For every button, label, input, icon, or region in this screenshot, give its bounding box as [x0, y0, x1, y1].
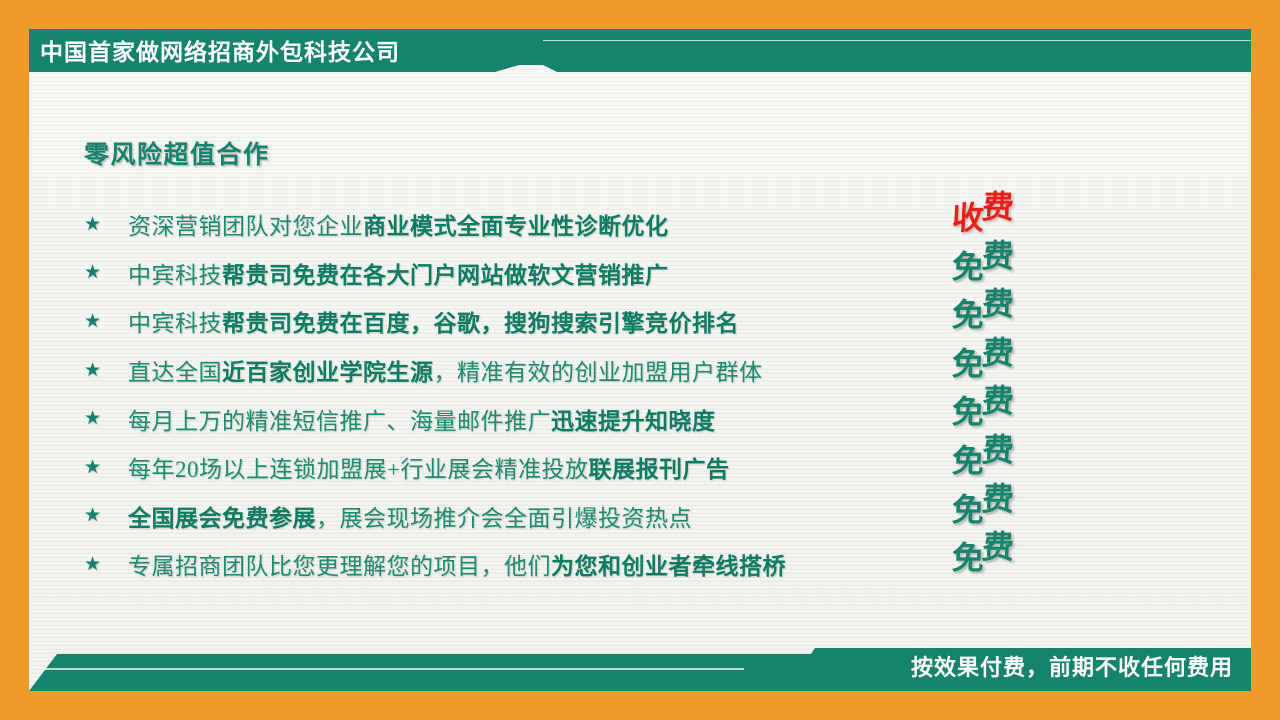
list-item-label: 直达全国近百家创业学院生源，精准有效的创业加盟用户群体 [128, 353, 763, 387]
price-char-first: 免 [951, 542, 985, 574]
star-icon: ★ [84, 215, 128, 234]
footer-text: 按效果付费，前期不收任何费用 [911, 650, 1233, 686]
star-icon: ★ [84, 409, 128, 428]
label-emphasis: 商业模式全面专业性诊断优化 [363, 214, 669, 239]
list-item-label: 专属招商团队比您更理解您的项目，他们为您和创业者牵线搭桥 [128, 547, 786, 581]
list-item-label: 中宾科技帮贵司免费在百度，谷歌，搜狗搜索引擎竞价排名 [128, 304, 739, 338]
list-item-label: 中宾科技帮贵司免费在各大门户网站做软文营销推广 [128, 256, 669, 290]
star-icon: ★ [84, 555, 128, 574]
status-badge-free: 免费 [952, 488, 1014, 520]
header-accent-strip [543, 41, 1251, 72]
list-item: ★中宾科技帮贵司免费在各大门户网站做软文营销推广 [84, 249, 1084, 298]
label-emphasis: 为您和创业者牵线搭桥 [551, 554, 786, 579]
price-char-first: 免 [951, 251, 985, 283]
list-item-label: 每年20场以上连锁加盟展+行业展会精准投放联展报刊广告 [128, 450, 729, 484]
label-normal-prefix: 资深营销团队对您企业 [128, 214, 363, 239]
star-icon: ★ [84, 312, 128, 331]
label-emphasis: 帮贵司免费在百度，谷歌，搜狗搜索引擎竞价排名 [222, 311, 739, 336]
price-char-first: 收 [951, 202, 985, 234]
list-item-label: 全国展会免费参展，展会现场推介会全面引爆投资热点 [128, 499, 692, 533]
list-item: ★资深营销团队对您企业商业模式全面专业性诊断优化 [84, 200, 1084, 249]
list-item: ★专属招商团队比您更理解您的项目，他们为您和创业者牵线搭桥 [84, 540, 1084, 589]
star-icon: ★ [84, 458, 128, 477]
label-emphasis: 帮贵司免费在各大门户网站做软文营销推广 [222, 263, 669, 288]
price-char-second: 费 [981, 240, 1015, 272]
list-item: ★每年20场以上连锁加盟展+行业展会精准投放联展报刊广告 [84, 443, 1084, 492]
label-emphasis: 全国展会免费参展 [128, 506, 316, 531]
slide-root: 中国首家做网络招商外包科技公司 零风险超值合作 ★资深营销团队对您企业商业模式全… [0, 0, 1280, 720]
list-item-label: 每月上万的精准短信推广、海量邮件推广迅速提升知晓度 [128, 402, 716, 436]
price-char-second: 费 [981, 483, 1015, 515]
price-char-first: 免 [951, 396, 985, 428]
price-char-second: 费 [981, 385, 1015, 417]
star-icon: ★ [84, 361, 128, 380]
label-normal-prefix: 中宾科技 [128, 311, 222, 336]
status-badge-free: 免费 [952, 536, 1014, 568]
list-item: ★中宾科技帮贵司免费在百度，谷歌，搜狗搜索引擎竞价排名 [84, 297, 1084, 346]
label-emphasis: 近百家创业学院生源 [222, 360, 434, 385]
label-normal-prefix: 专属招商团队比您更理解您的项目，他们 [128, 554, 551, 579]
status-badge-free: 免费 [952, 390, 1014, 422]
label-normal-prefix: 每年20场以上连锁加盟展+行业展会精准投放 [128, 457, 588, 482]
status-badge-free: 免费 [952, 342, 1014, 374]
price-char-first: 免 [951, 494, 985, 526]
list-item: ★每月上万的精准短信推广、海量邮件推广迅速提升知晓度 [84, 394, 1084, 443]
status-badge-free: 免费 [952, 439, 1014, 471]
header-title: 中国首家做网络招商外包科技公司 [40, 38, 400, 66]
list-item: ★直达全国近百家创业学院生源，精准有效的创业加盟用户群体 [84, 346, 1084, 395]
price-char-first: 免 [951, 445, 985, 477]
status-badge-free: 免费 [952, 293, 1014, 325]
label-normal-prefix: 中宾科技 [128, 263, 222, 288]
star-icon: ★ [84, 506, 128, 525]
price-char-first: 免 [951, 348, 985, 380]
label-emphasis: 迅速提升知晓度 [551, 409, 716, 434]
star-icon: ★ [84, 263, 128, 282]
price-row: 免费 [952, 536, 1072, 585]
footer-hairline [44, 668, 744, 670]
price-column: 收费免费免费免费免费免费免费免费 [952, 196, 1072, 585]
list-item: ★全国展会免费参展，展会现场推介会全面引爆投资热点 [84, 492, 1084, 541]
label-normal-suffix: ，精准有效的创业加盟用户群体 [434, 360, 763, 385]
price-char-second: 费 [981, 288, 1015, 320]
status-badge-charged: 收费 [952, 196, 1014, 228]
price-char-second: 费 [981, 191, 1015, 223]
status-badge-free: 免费 [952, 245, 1014, 277]
label-emphasis: 联展报刊广告 [588, 457, 729, 482]
label-normal-prefix: 每月上万的精准短信推广、海量邮件推广 [128, 409, 551, 434]
price-char-second: 费 [981, 337, 1015, 369]
price-char-second: 费 [981, 434, 1015, 466]
page-title: 零风险超值合作 [84, 135, 270, 171]
label-normal-suffix: ，展会现场推介会全面引爆投资热点 [316, 506, 692, 531]
label-normal-prefix: 直达全国 [128, 360, 222, 385]
list-item-label: 资深营销团队对您企业商业模式全面专业性诊断优化 [128, 207, 669, 241]
benefits-list: ★资深营销团队对您企业商业模式全面专业性诊断优化★中宾科技帮贵司免费在各大门户网… [84, 200, 1084, 589]
price-char-second: 费 [981, 531, 1015, 563]
price-char-first: 免 [951, 299, 985, 331]
